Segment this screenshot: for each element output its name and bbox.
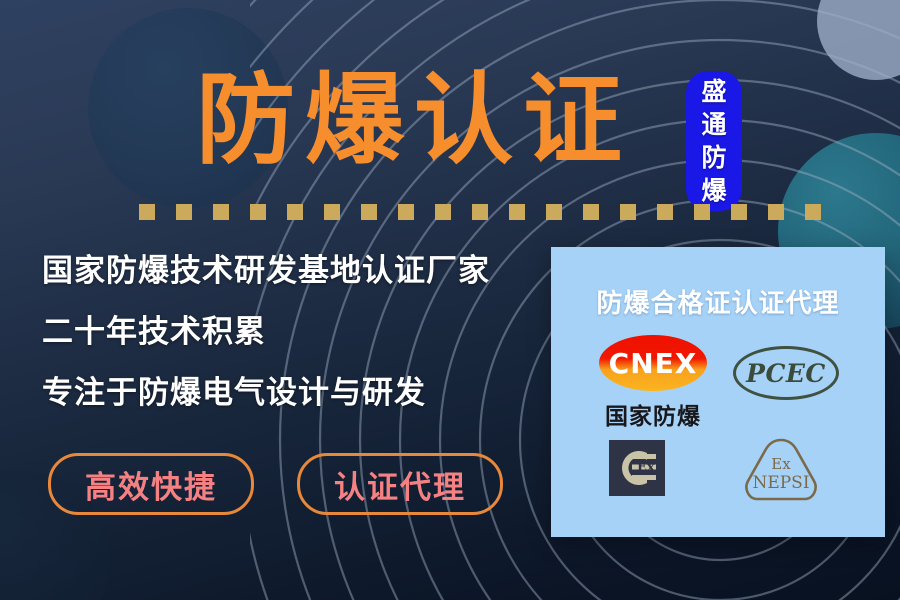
brand-badge-char-4: 爆 [701,174,726,207]
nepsi-logo: Ex NEPSI [738,435,824,505]
tag-pill-group: 高效快捷 认证代理 [48,453,503,515]
cnex-logo: CNEX 国家防爆 [593,335,713,431]
divider-dash-square [213,204,229,220]
certification-logo-grid: CNEX 国家防爆 PCEC Ex [551,335,885,525]
divider-dash-square [287,204,303,220]
cnex-label: 国家防爆 [593,397,713,431]
divider-dash-square [657,204,673,220]
svg-text:Ex: Ex [637,460,655,475]
divider-dashes [139,204,821,220]
hero-title-row: 防爆认证 盛 通 防 爆 [0,62,900,182]
divider-dash-square [398,204,414,220]
poster-canvas: 防爆认证 盛 通 防 爆 国家防爆技术研发基地认证厂家 二十年技术积累 专注于防… [0,0,900,600]
divider-dash-square [731,204,747,220]
ex-mark-icon: Ex [609,440,665,496]
pcec-logo: PCEC [733,346,839,400]
certification-card: 防爆合格证认证代理 CNEX 国家防爆 PCEC Ex [551,247,885,537]
certification-card-title: 防爆合格证认证代理 [551,283,885,320]
feature-copy-line-3: 专注于防爆电气设计与研发 [42,374,542,412]
tag-pill-efficiency[interactable]: 高效快捷 [48,453,254,515]
brand-badge-char-1: 盛 [701,75,726,108]
feature-copy-line-2: 二十年技术积累 [42,313,542,351]
brand-badge-char-2: 通 [701,108,726,141]
divider-dash-square [546,204,562,220]
divider-dash-square [509,204,525,220]
brand-badge: 盛 通 防 爆 [686,71,742,211]
cnex-oval-icon: CNEX [599,335,707,391]
divider-dash-square [694,204,710,220]
divider-dash-square [620,204,636,220]
divider-dash-square [435,204,451,220]
divider-dash-square [805,204,821,220]
svg-text:Ex: Ex [771,455,791,473]
divider-dash-square [324,204,340,220]
feature-copy-block: 国家防爆技术研发基地认证厂家 二十年技术积累 专注于防爆电气设计与研发 [42,252,542,435]
divider-dash-square [176,204,192,220]
pcec-mark-text: PCEC [746,359,826,388]
cnex-mark-text: CNEX [609,347,698,380]
divider-dash-square [583,204,599,220]
page-title: 防爆认证 [196,62,632,180]
divider-dash-square [361,204,377,220]
divider-dash-square [472,204,488,220]
divider-dash-square [250,204,266,220]
tag-pill-agency-label: 认证代理 [334,462,466,507]
brand-badge-char-3: 防 [701,141,726,174]
divider-dash-square [139,204,155,220]
tag-pill-efficiency-label: 高效快捷 [85,462,217,507]
svg-text:NEPSI: NEPSI [752,473,809,493]
divider-dash-square [768,204,784,220]
feature-copy-line-1: 国家防爆技术研发基地认证厂家 [42,252,542,290]
tag-pill-agency[interactable]: 认证代理 [297,453,503,515]
